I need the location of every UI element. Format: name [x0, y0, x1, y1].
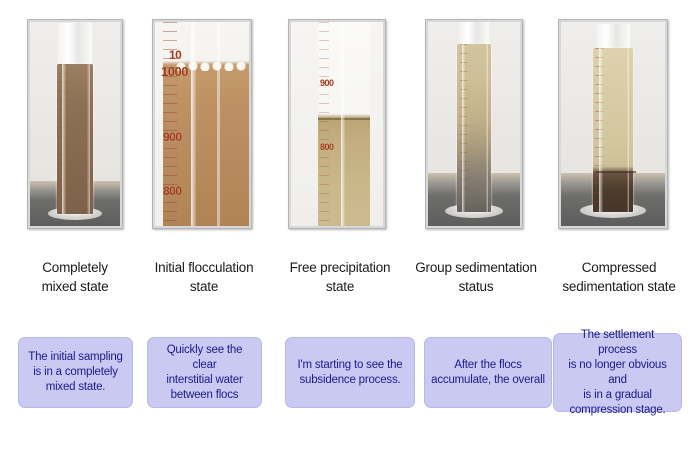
- photo-compressed-sedimentation: [561, 22, 665, 226]
- callout-line: After the flocs: [431, 358, 545, 373]
- callout-text: Quickly see the clear interstitial water…: [154, 343, 255, 403]
- caption-line: Free precipitation: [277, 258, 403, 277]
- caption-completely-mixed: Completely mixed state: [13, 258, 137, 296]
- callout-line: mixed state.: [25, 380, 126, 395]
- callout-line: is in a gradual: [560, 388, 675, 403]
- photo-strip: 1000 900 800 10 900 800: [0, 19, 697, 231]
- caption-compressed-sedimentation: Compressed sedimentation state: [546, 258, 692, 296]
- caption-line: state: [277, 277, 403, 296]
- callout-line: is no longer obvious and: [560, 358, 675, 388]
- callout-text: The settlement process is no longer obvi…: [560, 328, 675, 418]
- callout-completely-mixed[interactable]: The initial sampling is in a completely …: [18, 337, 133, 408]
- callout-line: The settlement process: [560, 328, 675, 358]
- photo-panel-group-sedimentation: [425, 19, 523, 229]
- callout-text: The initial sampling is in a completely …: [25, 350, 126, 395]
- compressed-sludge-interface: [596, 171, 636, 173]
- photo-panel-completely-mixed: [27, 19, 123, 229]
- caption-line: state: [138, 277, 270, 296]
- photo-completely-mixed: [30, 22, 120, 226]
- graduation-ticks: [58, 64, 67, 214]
- callout-initial-flocculation[interactable]: Quickly see the clear interstitial water…: [147, 337, 262, 408]
- graduation-label-1000: 1000: [161, 64, 188, 79]
- callout-text: After the flocs accumulate, the overall: [431, 358, 545, 388]
- callout-text: I'm starting to see the subsidence proce…: [292, 358, 408, 388]
- caption-initial-flocculation: Initial flocculation state: [138, 258, 270, 296]
- graduation-ticks: [595, 48, 602, 212]
- caption-line: Group sedimentation: [406, 258, 546, 277]
- glass-reflection: [341, 22, 345, 226]
- graduation-ticks: [460, 44, 467, 212]
- caption-group-sedimentation: Group sedimentation status: [406, 258, 546, 296]
- caption-line: status: [406, 277, 546, 296]
- cylinder-compressed-sedimentation: [593, 48, 633, 212]
- graduation-label-900: 900: [320, 78, 334, 88]
- photo-free-precipitation: 900 800: [291, 22, 383, 226]
- callout-line: is in a completely: [25, 365, 126, 380]
- glass-reflection-secondary: [217, 22, 220, 226]
- caption-line: Compressed: [546, 258, 692, 277]
- glass-reflection: [191, 22, 196, 226]
- graduation-ticks: [319, 22, 329, 226]
- caption-line: Completely: [13, 258, 137, 277]
- callout-line: Quickly see the clear: [154, 343, 255, 373]
- cylinder-completely-mixed: [57, 64, 93, 214]
- caption-free-precipitation: Free precipitation state: [277, 258, 403, 296]
- callout-compressed-sedimentation[interactable]: The settlement process is no longer obvi…: [553, 333, 682, 412]
- caption-line: mixed state: [13, 277, 137, 296]
- callout-line: subsidence process.: [292, 373, 408, 388]
- callout-line: interstitial water: [154, 373, 255, 388]
- callout-line: accumulate, the overall: [431, 373, 545, 388]
- cylinder-neck: [58, 23, 92, 68]
- callout-free-precipitation[interactable]: I'm starting to see the subsidence proce…: [285, 337, 415, 408]
- photo-initial-flocculation: 1000 900 800 10: [155, 22, 249, 226]
- slide-canvas: 1000 900 800 10 900 800: [0, 0, 697, 451]
- callout-line: between flocs: [154, 388, 255, 403]
- graduation-label-10: 10: [169, 48, 181, 62]
- callout-group-sedimentation[interactable]: After the flocs accumulate, the overall: [424, 337, 552, 408]
- graduation-label-900: 900: [163, 130, 182, 144]
- callout-line: I'm starting to see the: [292, 358, 408, 373]
- photo-group-sedimentation: [428, 22, 520, 226]
- photo-panel-free-precipitation: 900 800: [288, 19, 386, 229]
- callout-line: The initial sampling: [25, 350, 126, 365]
- caption-line: sedimentation state: [546, 277, 692, 296]
- callout-line: compression stage.: [560, 403, 675, 418]
- caption-line: Initial flocculation: [138, 258, 270, 277]
- graduation-label-800: 800: [163, 184, 182, 198]
- cylinder-group-sedimentation: [457, 44, 491, 212]
- photo-panel-compressed-sedimentation: [558, 19, 668, 229]
- photo-panel-initial-flocculation: 1000 900 800 10: [152, 19, 252, 229]
- graduation-label-800: 800: [320, 142, 334, 152]
